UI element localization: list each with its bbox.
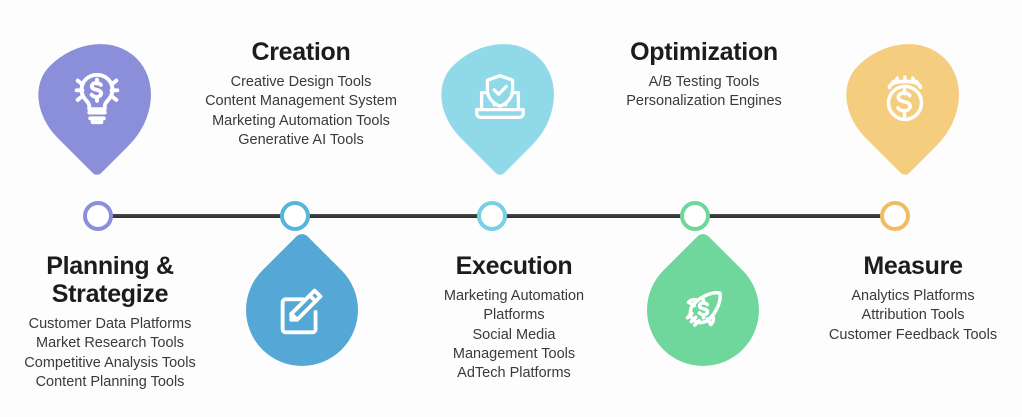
list-item: Content Management System [192, 92, 410, 111]
stage-text-planning: Planning & Strategize Customer Data Plat… [4, 252, 216, 392]
stage-items-planning: Customer Data Platforms Market Research … [4, 315, 216, 392]
edit-square-pencil-icon [271, 279, 333, 341]
list-item: Analytics Platforms [804, 287, 1022, 306]
list-item: Management Tools [404, 345, 624, 364]
node-planning[interactable] [83, 201, 113, 231]
stage-items-optimization: A/B Testing Tools Personalization Engine… [592, 73, 816, 112]
stage-heading-optimization: Optimization [592, 38, 816, 66]
stage-text-measure: Measure Analytics Platforms Attribution … [804, 252, 1022, 345]
marker-execution[interactable] [421, 19, 579, 177]
list-item: Content Planning Tools [4, 373, 216, 392]
list-item: Creative Design Tools [192, 73, 410, 92]
stage-heading-measure: Measure [804, 252, 1022, 280]
stage-heading-planning: Planning & Strategize [4, 252, 216, 308]
marker-optimization[interactable] [624, 231, 782, 389]
list-item: Marketing Automation Tools [192, 112, 410, 131]
node-optimization[interactable] [680, 201, 710, 231]
stage-text-execution: Execution Marketing Automation Platforms… [404, 252, 624, 383]
stage-items-creation: Creative Design Tools Content Management… [192, 73, 410, 150]
list-item: Customer Feedback Tools [804, 326, 1022, 345]
stage-text-optimization: Optimization A/B Testing Tools Personali… [592, 38, 816, 112]
rocket-dollar-icon [672, 279, 734, 341]
list-item: Generative AI Tools [192, 131, 410, 150]
laptop-shield-check-icon [469, 67, 531, 129]
list-item: Marketing Automation [404, 287, 624, 306]
stage-text-creation: Creation Creative Design Tools Content M… [192, 38, 410, 150]
list-item: A/B Testing Tools [592, 73, 816, 92]
list-item: Attribution Tools [804, 306, 1022, 325]
list-item: Customer Data Platforms [4, 315, 216, 334]
lightbulb-dollar-icon [66, 67, 128, 129]
money-bag-dollar-icon [874, 67, 936, 129]
list-item: Competitive Analysis Tools [4, 354, 216, 373]
node-creation[interactable] [280, 201, 310, 231]
stage-items-measure: Analytics Platforms Attribution Tools Cu… [804, 287, 1022, 345]
marker-planning[interactable] [18, 19, 176, 177]
list-item: Personalization Engines [592, 92, 816, 111]
node-measure[interactable] [880, 201, 910, 231]
list-item: Market Research Tools [4, 334, 216, 353]
list-item: Social Media [404, 326, 624, 345]
marker-measure[interactable] [826, 19, 984, 177]
infographic-canvas: Planning & Strategize Customer Data Plat… [0, 0, 1022, 417]
list-item: AdTech Platforms [404, 364, 624, 383]
stage-heading-execution: Execution [404, 252, 624, 280]
marker-creation[interactable] [223, 231, 381, 389]
stage-heading-creation: Creation [192, 38, 410, 66]
list-item: Platforms [404, 306, 624, 325]
stage-items-execution: Marketing Automation Platforms Social Me… [404, 287, 624, 383]
node-execution[interactable] [477, 201, 507, 231]
